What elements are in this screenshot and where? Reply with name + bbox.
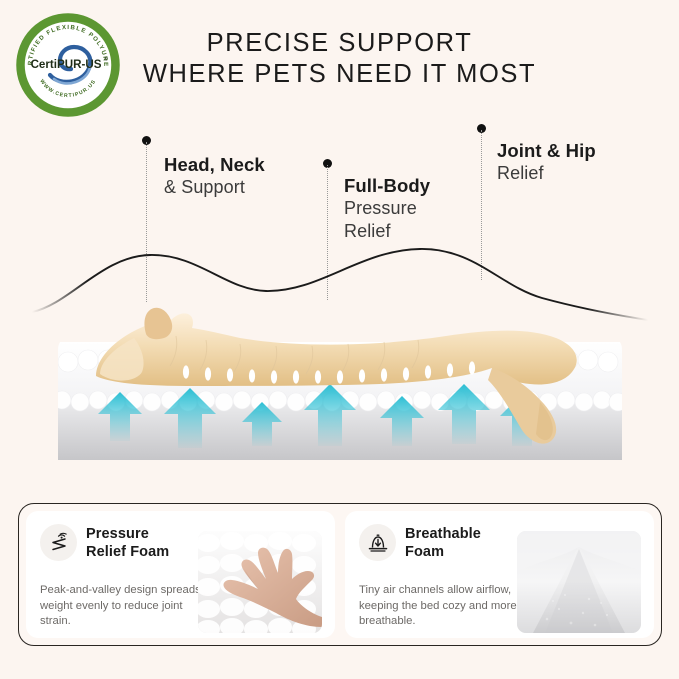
card-body-text: Peak-and-valley design spreads weight ev… xyxy=(40,583,215,630)
compressed-spring-icon xyxy=(40,524,77,561)
callout-joint-hip: Joint & Hip Relief xyxy=(497,139,596,185)
card-title-line-1: Breathable xyxy=(405,525,481,543)
hand-pressing-egg-crate-foam-photo xyxy=(198,531,322,633)
callout-head-neck-subtitle: & Support xyxy=(164,176,265,199)
feature-cards-container: Pressure Relief Foam Peak-and-valley des… xyxy=(18,503,662,646)
callout-head-neck-title: Head, Neck xyxy=(164,153,265,176)
headline-line-2: WHERE PETS NEED IT MOST xyxy=(0,59,679,90)
card-title-line-1: Pressure xyxy=(86,525,169,543)
callout-joint-hip-title: Joint & Hip xyxy=(497,139,596,162)
callout-full-body-subtitle-1: Pressure xyxy=(344,197,430,220)
headline-line-1: PRECISE SUPPORT xyxy=(0,28,679,59)
card-title-line-2: Relief Foam xyxy=(86,543,169,561)
card-title-line-2: Foam xyxy=(405,543,481,561)
callout-head-neck: Head, Neck & Support xyxy=(164,153,265,199)
callout-joint-hip-subtitle: Relief xyxy=(497,162,596,185)
feature-card-pressure-relief-foam[interactable]: Pressure Relief Foam Peak-and-valley des… xyxy=(26,511,335,638)
card-body-text: Tiny air channels allow airflow, keeping… xyxy=(359,583,534,630)
callout-full-body: Full-Body Pressure Relief xyxy=(344,174,430,243)
feature-card-breathable-foam[interactable]: Breathable Foam Tiny air channels allow … xyxy=(345,511,654,638)
page-title: PRECISE SUPPORT WHERE PETS NEED IT MOST xyxy=(0,28,679,90)
callout-full-body-title: Full-Body xyxy=(344,174,430,197)
airflow-down-arrow-icon xyxy=(359,524,396,561)
dog-on-foam-bed xyxy=(0,290,679,495)
foam-air-channel-closeup-photo xyxy=(517,531,641,633)
